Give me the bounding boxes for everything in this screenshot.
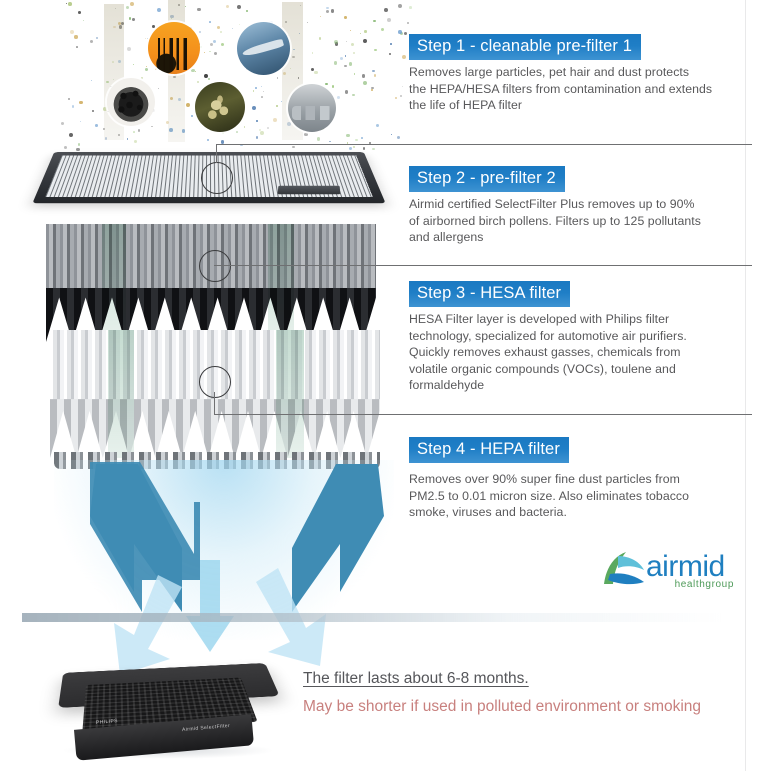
step-1-badge: Step 1 - cleanable pre-filter 1 (409, 34, 641, 60)
step-3-badge: Step 3 - HESA filter (409, 281, 570, 307)
hesa-green-shaft-a (102, 224, 126, 342)
airmid-swoosh-icon (600, 550, 646, 590)
leader-line-step2 (214, 265, 752, 266)
airflow-divider-band (22, 613, 722, 622)
callout-circle-step3 (199, 366, 231, 398)
leader-line-step1 (216, 144, 752, 145)
hepa-green-shaft-b (276, 330, 304, 458)
step-4-badge: Step 4 - HEPA filter (409, 437, 569, 463)
traffic-exhaust-icon (288, 84, 336, 132)
soot-dust-icon (107, 78, 155, 126)
hesa-green-shaft-b (268, 224, 294, 342)
hepa-green-shaft-a (108, 330, 134, 458)
airmid-logo: airmid healthgroup (600, 548, 734, 594)
step-4-body: Removes over 90% super fine dust particl… (409, 471, 739, 521)
leader-line-step1-stem (216, 144, 217, 163)
callout-circle-step2 (199, 250, 231, 282)
leader-line-step3-stem (214, 392, 215, 414)
right-border-rule (745, 0, 746, 771)
industrial-emissions-icon (148, 22, 200, 74)
callout-circle-step1 (201, 162, 233, 194)
step-2-badge: Step 2 - pre-filter 2 (409, 166, 565, 192)
pollen-mold-icon (195, 82, 245, 132)
infographic-canvas: Step 1 - cleanable pre-filter 1 Removes … (0, 0, 771, 771)
step-3-body: HESA Filter layer is developed with Phil… (409, 311, 739, 394)
hepa-pleat-shadows (50, 399, 380, 458)
airmid-tagline: healthgroup (675, 579, 734, 590)
step-2-body: Airmid certified SelectFilter Plus remov… (409, 196, 739, 246)
aircraft-exhaust-icon (237, 22, 290, 75)
filter-warning-text: May be shorter if used in polluted envir… (303, 698, 701, 716)
step-1-body: Removes large particles, pet hair and du… (409, 64, 739, 114)
leader-line-step3 (214, 414, 752, 415)
hesa-filter-layer (46, 224, 376, 342)
filter-lifetime-text: The filter lasts about 6-8 months. (303, 670, 529, 688)
philips-air-purifier-device: PHILIPS Airmid SelectFilter (62, 655, 274, 759)
plate-handle-tab (278, 186, 341, 194)
